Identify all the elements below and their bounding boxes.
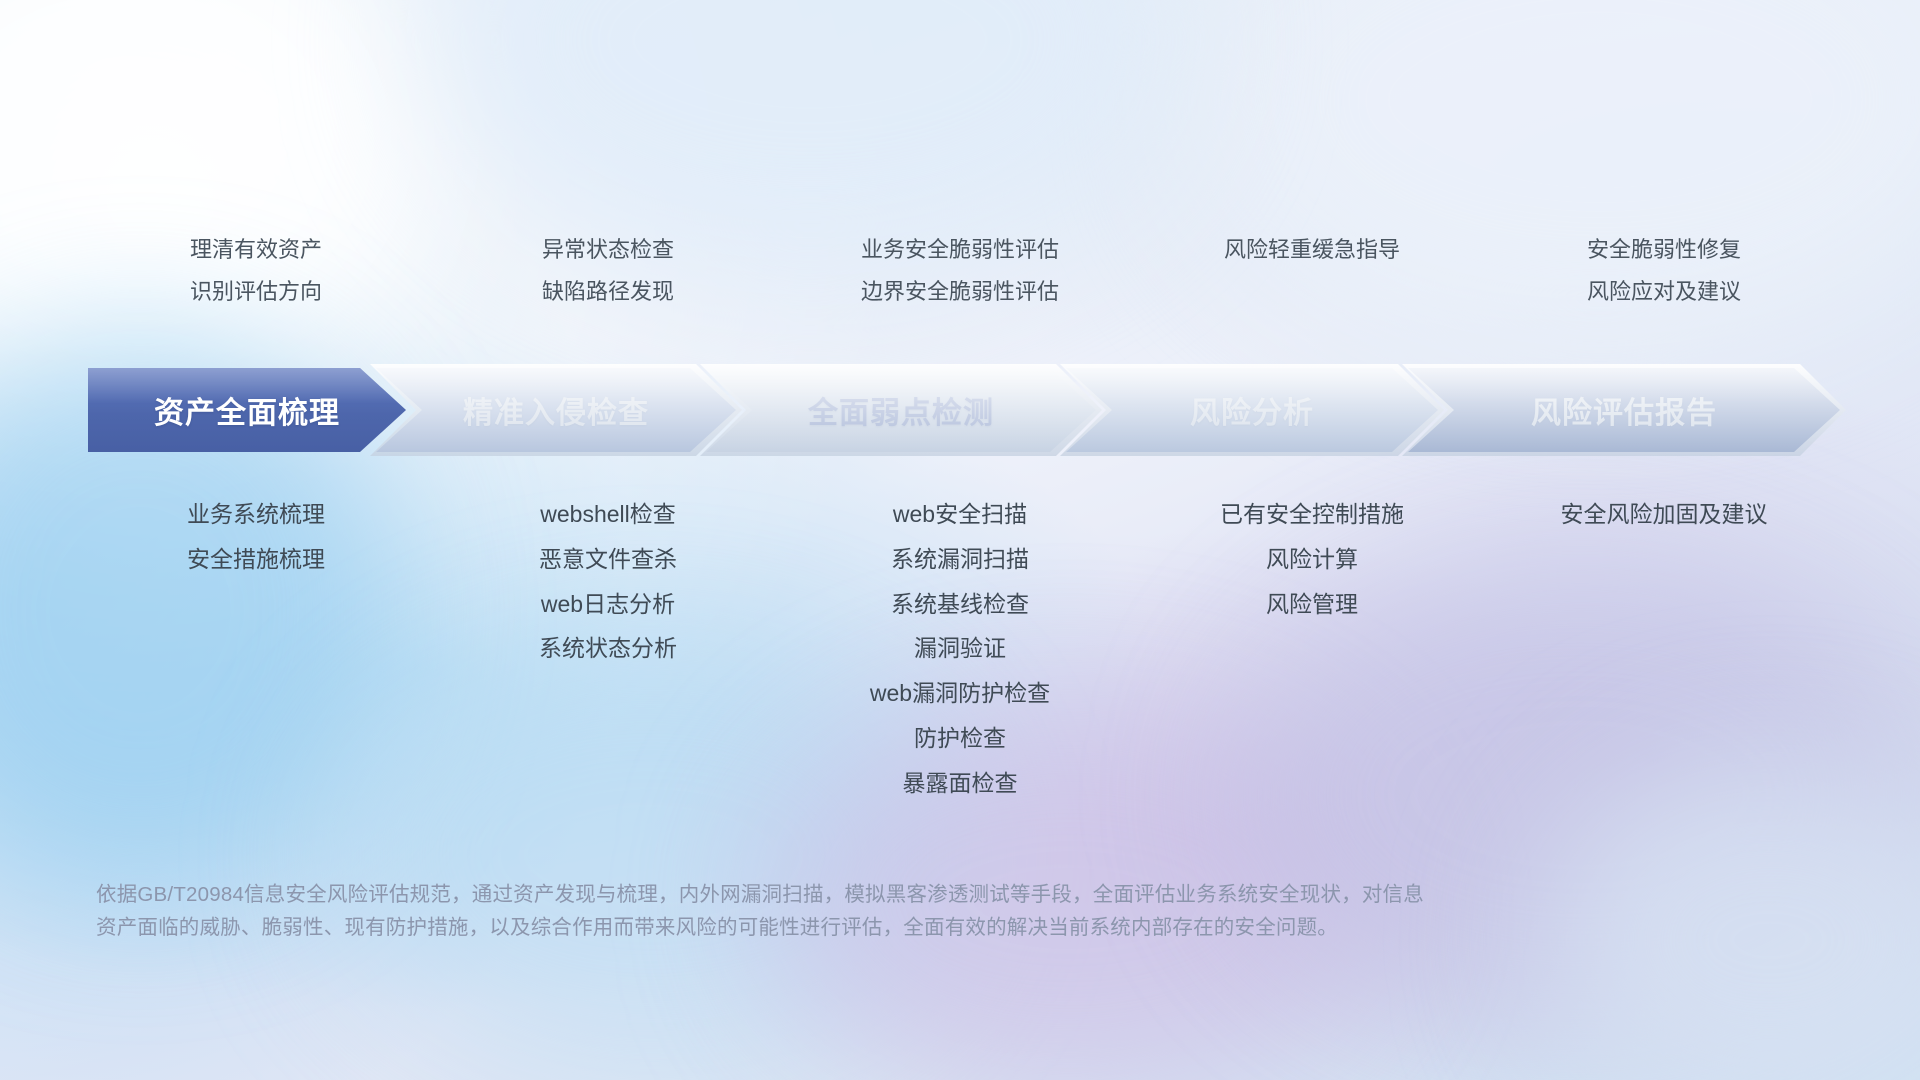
chevron-stage-1[interactable]: 资产全面梳理 — [88, 368, 406, 452]
top-labels-stage-4: 风险轻重缓急指导 — [1136, 236, 1488, 306]
detail-item: 已有安全控制措施 — [1220, 500, 1404, 529]
chevron-bevel — [1060, 364, 1444, 456]
bottom-details-stage-2: webshell检查 恶意文件查杀 web日志分析 系统状态分析 — [432, 500, 784, 663]
chevron-bevel — [700, 364, 1102, 456]
detail-item: 安全风险加固及建议 — [1561, 500, 1768, 529]
top-label: 安全脆弱性修复 — [1587, 236, 1741, 264]
detail-item: web安全扫描 — [893, 500, 1027, 529]
chevron-bevel — [370, 364, 742, 456]
top-labels-stage-2: 异常状态检查 缺陷路径发现 — [432, 236, 784, 306]
detail-item: 业务系统梳理 — [187, 500, 325, 529]
detail-item: 防护检查 — [914, 724, 1006, 753]
top-label: 异常状态检查 — [542, 236, 674, 264]
bottom-details-stage-4: 已有安全控制措施 风险计算 风险管理 — [1136, 500, 1488, 618]
detail-item: 恶意文件查杀 — [539, 545, 677, 574]
top-labels-row: 理清有效资产 识别评估方向 异常状态检查 缺陷路径发现 业务安全脆弱性评估 边界… — [80, 236, 1840, 306]
top-label: 理清有效资产 — [190, 236, 322, 264]
top-label: 识别评估方向 — [190, 278, 322, 306]
chevron-label: 资产全面梳理 — [154, 388, 340, 432]
top-label: 缺陷路径发现 — [542, 278, 674, 306]
top-labels-stage-1: 理清有效资产 识别评估方向 — [80, 236, 432, 306]
detail-item: 系统状态分析 — [539, 634, 677, 663]
detail-item: 系统基线检查 — [891, 590, 1029, 619]
detail-item: 安全措施梳理 — [187, 545, 325, 574]
chevron-bevel — [1402, 364, 1846, 456]
top-label: 风险应对及建议 — [1587, 278, 1741, 306]
detail-item: 系统漏洞扫描 — [891, 545, 1029, 574]
detail-item: webshell检查 — [540, 500, 676, 529]
detail-item: 漏洞验证 — [914, 634, 1006, 663]
top-labels-stage-3: 业务安全脆弱性评估 边界安全脆弱性评估 — [784, 236, 1136, 306]
process-chevron-banner: 资产全面梳理 精准入侵检查 全面弱点检测 风险分析 风险评估报告 — [88, 368, 1840, 452]
bottom-details-stage-1: 业务系统梳理 安全措施梳理 — [80, 500, 432, 574]
top-label: 风险轻重缓急指导 — [1224, 236, 1400, 264]
detail-item: 暴露面检查 — [903, 769, 1018, 798]
detail-item: web漏洞防护检查 — [870, 679, 1050, 708]
bottom-details-stage-5: 安全风险加固及建议 — [1488, 500, 1840, 529]
footer-line-2: 资产面临的威胁、脆弱性、现有防护措施，以及综合作用而带来风险的可能性进行评估，全… — [96, 911, 1616, 944]
slide-canvas: 理清有效资产 识别评估方向 异常状态检查 缺陷路径发现 业务安全脆弱性评估 边界… — [0, 0, 1920, 1080]
footer-description: 依据GB/T20984信息安全风险评估规范，通过资产发现与梳理，内外网漏洞扫描，… — [96, 878, 1616, 944]
detail-item: web日志分析 — [541, 590, 675, 619]
top-label: 业务安全脆弱性评估 — [861, 236, 1059, 264]
detail-item: 风险管理 — [1266, 590, 1358, 619]
footer-line-1: 依据GB/T20984信息安全风险评估规范，通过资产发现与梳理，内外网漏洞扫描，… — [96, 878, 1616, 911]
bottom-details-row: 业务系统梳理 安全措施梳理 webshell检查 恶意文件查杀 web日志分析 … — [80, 500, 1840, 797]
top-labels-stage-5: 安全脆弱性修复 风险应对及建议 — [1488, 236, 1840, 306]
top-label: 边界安全脆弱性评估 — [861, 278, 1059, 306]
detail-item: 风险计算 — [1266, 545, 1358, 574]
bottom-details-stage-3: web安全扫描 系统漏洞扫描 系统基线检查 漏洞验证 web漏洞防护检查 防护检… — [784, 500, 1136, 797]
